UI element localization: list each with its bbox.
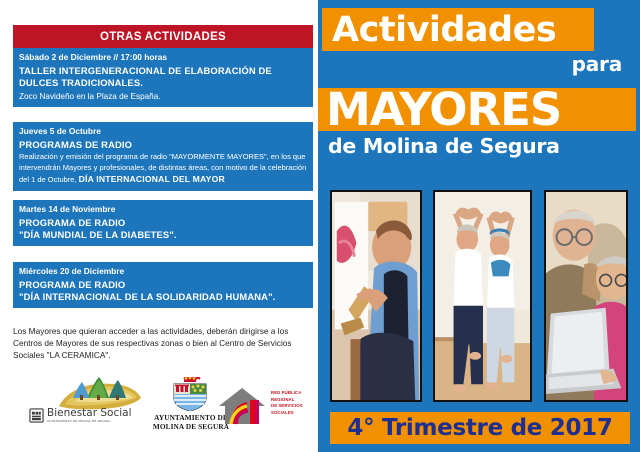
bienestar-subtitle: AYUNTAMIENTO DE MOLINA DE SEGURA <box>47 420 132 423</box>
title-actividades: Actividades <box>332 7 612 52</box>
activity-body-highlight: DÍA INTERNACIONAL DEL MAYOR <box>79 174 225 184</box>
coat-of-arms-icon <box>170 377 210 411</box>
activity-date: Miércoles 20 de Diciembre <box>19 266 307 277</box>
activity-date: Martes 14 de Noviembre <box>19 204 307 215</box>
activity-body: Realización y emisión del programa de ra… <box>19 152 307 186</box>
activity-block-1: Sábado 2 de Diciembre // 17:00 horas TAL… <box>13 48 313 107</box>
logo-row: Bienestar Social AYUNTAMIENTO DE MOLINA … <box>13 376 313 438</box>
activity-block-3: Martes 14 de Noviembre PROGRAMA DE RADIO… <box>13 200 313 246</box>
painting-scene-illustration <box>332 192 420 400</box>
activity-subtitle: "DÍA INTERNACIONAL DE LA SOLIDARIDAD HUM… <box>19 291 307 303</box>
photo-strip <box>318 190 640 402</box>
date-bar: 4° Trimestre de 2017 <box>330 412 630 444</box>
poster: OTRAS ACTIVIDADES Sábado 2 de Diciembre … <box>0 0 640 452</box>
senior-women-yoga-photo <box>433 190 532 402</box>
yoga-scene-illustration <box>435 192 530 400</box>
activity-title: PROGRAMAS DE RADIO <box>19 139 307 151</box>
title-mayores: MAYORES <box>326 84 636 134</box>
activity-block-2: Jueves 5 de Octubre PROGRAMAS DE RADIO R… <box>13 122 313 191</box>
title-para: para <box>572 52 622 76</box>
left-panel: OTRAS ACTIVIDADES Sábado 2 de Diciembre … <box>0 0 318 452</box>
senior-couple-laptop-photo <box>544 190 628 402</box>
activity-title: PROGRAMA DE RADIO <box>19 217 307 229</box>
senior-woman-painting-photo <box>330 190 422 402</box>
bienestar-illustration-icon <box>51 376 143 410</box>
bienestar-name: Bienestar Social <box>47 408 132 419</box>
molina-seal-icon <box>29 408 44 423</box>
laptop-scene-illustration <box>546 192 626 400</box>
red-line2: REGIONAL <box>271 397 319 404</box>
logo-bienestar-social: Bienestar Social AYUNTAMIENTO DE MOLINA … <box>29 376 151 432</box>
red-line3: DE SERVICIOS <box>271 403 319 410</box>
activity-block-4: Miércoles 20 de Diciembre PROGRAMA DE RA… <box>13 262 313 308</box>
activity-subtitle: "DÍA MUNDIAL DE LA DIABETES". <box>19 229 307 241</box>
date-bar-label: 4° Trimestre de 2017 <box>347 415 612 441</box>
title-molina-de-segura: de Molina de Segura <box>328 134 560 158</box>
red-line4: SOCIALES <box>271 410 319 417</box>
banner-label: OTRAS ACTIVIDADES <box>100 31 226 43</box>
house-icon <box>217 386 267 426</box>
red-publica-wordmark: RED PÚBLICA REGIONAL DE SERVICIOS SOCIAL… <box>271 390 319 417</box>
otras-actividades-banner: OTRAS ACTIVIDADES <box>13 25 313 48</box>
activity-subtitle: Zoco Navideño en la Plaza de España. <box>19 91 307 102</box>
closing-paragraph: Los Mayores que quieran acceder a las ac… <box>13 325 309 361</box>
activity-date: Jueves 5 de Octubre <box>19 126 307 137</box>
bienestar-wordmark: Bienestar Social AYUNTAMIENTO DE MOLINA … <box>29 408 151 423</box>
logo-red-publica: RED PÚBLICA REGIONAL DE SERVICIOS SOCIAL… <box>217 384 317 430</box>
activity-title: TALLER INTERGENERACIONAL DE ELABORACIÓN … <box>19 65 307 89</box>
red-line1: RED PÚBLICA <box>271 390 319 397</box>
activity-date: Sábado 2 de Diciembre // 17:00 horas <box>19 52 307 63</box>
activity-title: PROGRAMA DE RADIO <box>19 279 307 291</box>
